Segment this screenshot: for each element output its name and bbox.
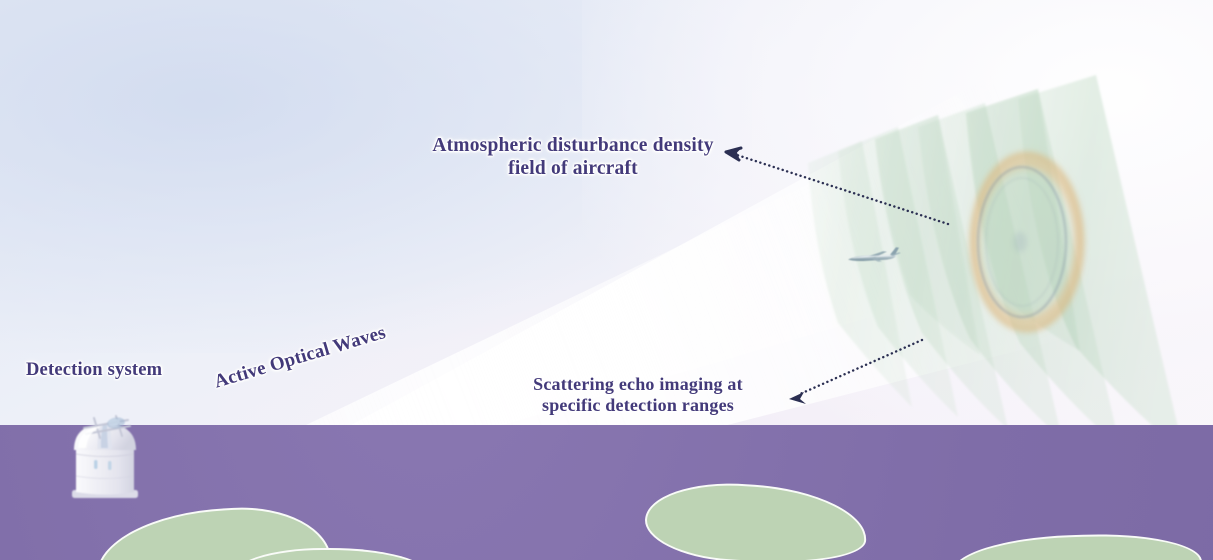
earth-globe-icon bbox=[0, 425, 1213, 560]
scattering-echo-ring-icon bbox=[963, 144, 1091, 340]
aircraft-icon bbox=[843, 245, 905, 271]
label-active-optical-waves: Active Optical Waves bbox=[212, 322, 389, 394]
optical-beam-core bbox=[54, 124, 951, 560]
arrowhead-field bbox=[726, 148, 741, 160]
sky-gradient-right bbox=[582, 0, 1213, 420]
diagram-scene: Atmospheric disturbance density field of… bbox=[0, 0, 1213, 560]
arrow-line-field bbox=[737, 155, 948, 224]
observatory-dome-icon bbox=[64, 414, 146, 502]
disturbance-field-planes bbox=[780, 55, 1213, 465]
landmass bbox=[94, 503, 333, 560]
arrowhead-field-fill bbox=[727, 148, 743, 161]
arrowhead-echo-fill bbox=[789, 392, 806, 404]
landmass bbox=[230, 548, 430, 560]
landmass bbox=[643, 477, 870, 560]
label-detection-system: Detection system bbox=[26, 360, 162, 382]
annotation-arrows bbox=[0, 0, 1213, 560]
earth-sphere bbox=[0, 425, 1213, 560]
label-scattering-echo-imaging: Scattering echo imaging at specific dete… bbox=[520, 374, 756, 416]
label-atmospheric-disturbance-field: Atmospheric disturbance density field of… bbox=[424, 134, 722, 180]
arrow-line-echo bbox=[800, 340, 922, 394]
landmass bbox=[951, 531, 1203, 560]
